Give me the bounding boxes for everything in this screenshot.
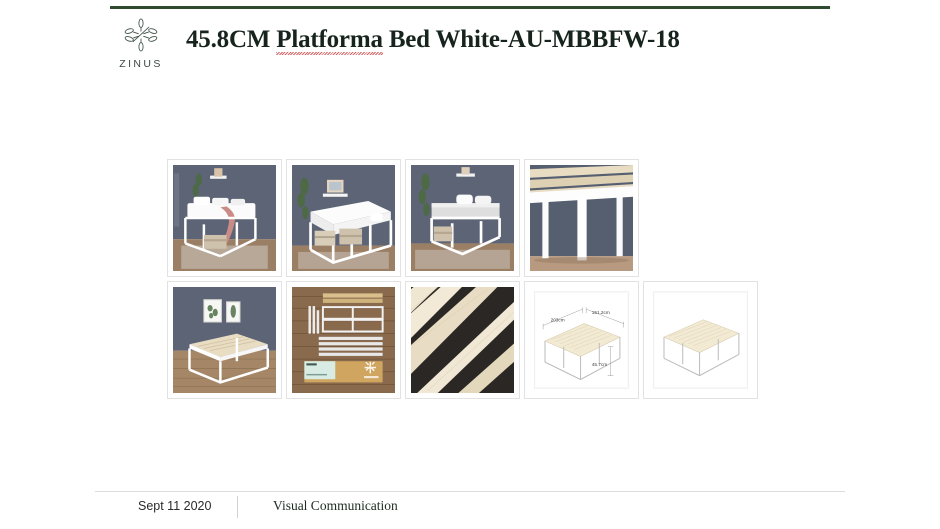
gallery-cell[interactable] <box>165 157 284 279</box>
footer-date: Sept 11 2020 <box>138 499 211 513</box>
photo-dimension-diagram-annotated: 203cm 151.2cm 45.7cm <box>530 287 633 393</box>
gallery-cell[interactable]: 203cm 151.2cm 45.7cm <box>522 279 641 401</box>
dimension-label-height: 45.7cm <box>592 362 607 368</box>
photo-bed-side-profile-view <box>411 165 514 271</box>
image-frame <box>524 159 639 277</box>
gallery-cell[interactable] <box>403 157 522 279</box>
dimension-label-length: 203cm <box>551 318 565 324</box>
product-image-gallery: 203cm 151.2cm 45.7cm <box>165 157 773 401</box>
page-title-suffix: Bed White-AU-MBBFW-18 <box>383 26 680 53</box>
image-frame <box>643 281 758 399</box>
image-frame <box>167 281 282 399</box>
photo-frame-leg-closeup <box>530 165 633 271</box>
brand-wordmark: ZINUS <box>119 58 163 70</box>
photo-wood-slat-macro <box>411 287 514 393</box>
photo-flat-pack-parts-layout <box>292 287 395 393</box>
image-frame <box>405 281 520 399</box>
gallery-cell[interactable] <box>522 157 641 279</box>
brand-logo: ZINUS <box>108 14 174 70</box>
photo-dimension-diagram-plain <box>649 287 752 393</box>
page-title: 45.8CM Platforma Bed White-AU-MBBFW-18 <box>186 26 680 54</box>
footer-section-label: Visual Communication <box>273 498 398 514</box>
footer-divider <box>237 496 238 518</box>
footer-rule <box>95 491 845 492</box>
image-frame: 203cm 151.2cm 45.7cm <box>524 281 639 399</box>
image-frame <box>405 159 520 277</box>
dimension-label-width: 151.2cm <box>592 310 610 316</box>
page-header: ZINUS 45.8CM Platforma Bed White-AU-MBBF… <box>108 14 848 84</box>
gallery-cell[interactable] <box>165 279 284 401</box>
zinus-leaf-logo-icon <box>120 18 162 52</box>
page-footer: Sept 11 2020 Visual Communication <box>95 494 845 528</box>
page-title-prefix: 45.8CM <box>186 26 276 53</box>
gallery-cell[interactable] <box>641 279 760 401</box>
image-frame <box>286 281 401 399</box>
photo-bed-styled-three-quarter-view <box>173 165 276 271</box>
photo-bed-underbed-storage-view <box>292 165 395 271</box>
gallery-cell[interactable] <box>403 279 522 401</box>
image-frame <box>286 159 401 277</box>
header-top-rule <box>110 6 830 9</box>
photo-bare-frame-room-view <box>173 287 276 393</box>
image-frame <box>167 159 282 277</box>
gallery-cell[interactable] <box>284 157 403 279</box>
gallery-cell[interactable] <box>284 279 403 401</box>
page-title-misspelled-word: Platforma <box>276 26 383 54</box>
